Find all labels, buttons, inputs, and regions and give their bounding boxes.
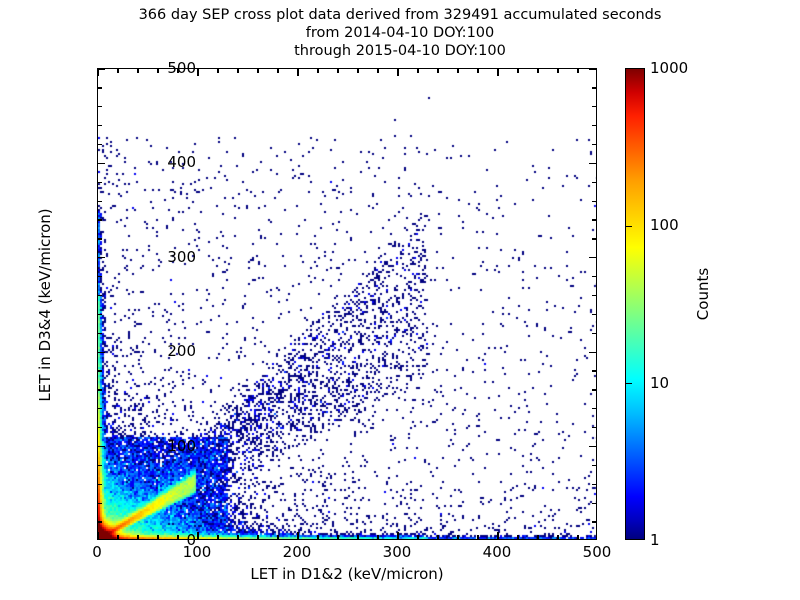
y-axis-tick [98, 68, 105, 69]
x-axis-minor-tick [277, 535, 278, 539]
y-axis-minor-tick [592, 182, 596, 183]
colorbar-gradient [626, 69, 644, 539]
x-axis-tick [197, 532, 198, 539]
x-tick-label: 0 [62, 543, 132, 561]
y-axis-minor-tick [592, 408, 596, 409]
x-axis-minor-tick [257, 535, 258, 539]
x-axis-tick [497, 532, 498, 539]
y-tick-label: 300 [126, 248, 196, 266]
colorbar [625, 68, 645, 540]
y-axis-tick [98, 163, 105, 164]
x-axis-minor-tick [357, 535, 358, 539]
x-axis-tick [397, 532, 398, 539]
y-axis-minor-tick [592, 389, 596, 390]
y-axis-minor-tick [98, 201, 102, 202]
colorbar-tick [626, 383, 632, 384]
x-axis-minor-tick [217, 69, 218, 73]
x-axis-minor-tick [517, 69, 518, 73]
x-axis-minor-tick [457, 535, 458, 539]
y-axis-minor-tick [98, 125, 102, 126]
y-axis-minor-tick [592, 87, 596, 88]
y-axis-minor-tick [98, 314, 102, 315]
x-tick-label: 400 [462, 543, 532, 561]
y-axis-minor-tick [592, 125, 596, 126]
y-axis-minor-tick [98, 521, 102, 522]
x-axis-minor-tick [457, 69, 458, 73]
title-line-3: through 2015-04-10 DOY:100 [0, 42, 800, 60]
y-axis-minor-tick [592, 333, 596, 334]
x-tick-label: 200 [262, 543, 332, 561]
x-axis-tick [97, 532, 98, 539]
colorbar-tick [626, 226, 632, 227]
x-axis-minor-tick [417, 535, 418, 539]
x-axis-tick [97, 69, 98, 76]
x-axis-tick [397, 69, 398, 76]
x-tick-label: 300 [362, 543, 432, 561]
x-axis-minor-tick [477, 69, 478, 73]
y-axis-minor-tick [98, 182, 102, 183]
y-axis-minor-tick [98, 370, 102, 371]
y-axis-minor-tick [98, 484, 102, 485]
y-axis-minor-tick [592, 106, 596, 107]
x-axis-minor-tick [517, 535, 518, 539]
colorbar-tick-label: 100 [650, 216, 679, 234]
y-axis-minor-tick [98, 276, 102, 277]
x-axis-minor-tick [377, 535, 378, 539]
y-axis-minor-tick [98, 87, 102, 88]
y-axis-minor-tick [98, 427, 102, 428]
y-axis-minor-tick [592, 238, 596, 239]
plot-area [97, 68, 597, 540]
y-axis-minor-tick [592, 465, 596, 466]
x-axis-minor-tick [557, 535, 558, 539]
x-axis-minor-tick [237, 535, 238, 539]
colorbar-tick-label: 10 [650, 374, 669, 392]
chart-title: 366 day SEP cross plot data derived from… [0, 6, 800, 60]
y-tick-label: 100 [126, 437, 196, 455]
y-axis-minor-tick [98, 333, 102, 334]
x-axis-minor-tick [537, 69, 538, 73]
x-tick-label: 500 [562, 543, 632, 561]
y-axis-minor-tick [592, 276, 596, 277]
y-axis-minor-tick [98, 219, 102, 220]
y-axis-minor-tick [592, 370, 596, 371]
y-axis-tick [589, 446, 596, 447]
y-axis-minor-tick [98, 408, 102, 409]
x-axis-minor-tick [117, 535, 118, 539]
y-axis-minor-tick [98, 295, 102, 296]
y-axis-tick [98, 257, 105, 258]
x-axis-minor-tick [277, 69, 278, 73]
colorbar-title: Counts [694, 94, 712, 494]
x-axis-minor-tick [577, 535, 578, 539]
y-axis-minor-tick [98, 503, 102, 504]
y-axis-tick [589, 352, 596, 353]
y-tick-label: 400 [126, 153, 196, 171]
x-axis-minor-tick [317, 69, 318, 73]
title-line-2: from 2014-04-10 DOY:100 [0, 24, 800, 42]
x-axis-minor-tick [437, 535, 438, 539]
y-axis-minor-tick [592, 295, 596, 296]
scatter-density-plot [98, 69, 597, 540]
x-axis-minor-tick [437, 69, 438, 73]
y-axis-minor-tick [98, 465, 102, 466]
x-axis-minor-tick [217, 535, 218, 539]
y-axis-minor-tick [592, 201, 596, 202]
y-axis-minor-tick [98, 106, 102, 107]
y-tick-label: 200 [126, 342, 196, 360]
x-axis-tick [297, 532, 298, 539]
x-axis-minor-tick [357, 69, 358, 73]
x-axis-minor-tick [337, 69, 338, 73]
y-axis-tick [589, 163, 596, 164]
x-axis-tick [197, 69, 198, 76]
x-axis-minor-tick [337, 535, 338, 539]
y-axis-tick [589, 257, 596, 258]
y-axis-tick [98, 352, 105, 353]
x-axis-minor-tick [317, 535, 318, 539]
y-tick-label: 500 [126, 59, 196, 77]
x-axis-title: LET in D1&2 (keV/micron) [97, 565, 597, 583]
colorbar-tick-label: 1 [650, 531, 660, 549]
x-axis-minor-tick [377, 69, 378, 73]
y-axis-title: LET in D3&4 (keV/micron) [36, 55, 54, 555]
colorbar-tick-label: 1000 [650, 59, 688, 77]
x-axis-minor-tick [237, 69, 238, 73]
y-axis-minor-tick [592, 219, 596, 220]
y-axis-tick [98, 446, 105, 447]
y-axis-minor-tick [98, 238, 102, 239]
x-axis-tick [297, 69, 298, 76]
y-axis-minor-tick [592, 503, 596, 504]
title-line-1: 366 day SEP cross plot data derived from… [0, 6, 800, 24]
figure-canvas: 366 day SEP cross plot data derived from… [0, 0, 800, 600]
x-axis-minor-tick [417, 69, 418, 73]
x-axis-minor-tick [537, 535, 538, 539]
x-axis-minor-tick [557, 69, 558, 73]
y-axis-minor-tick [592, 427, 596, 428]
x-axis-tick [497, 69, 498, 76]
x-axis-minor-tick [117, 69, 118, 73]
y-axis-minor-tick [98, 144, 102, 145]
y-axis-minor-tick [98, 389, 102, 390]
y-axis-minor-tick [592, 484, 596, 485]
y-axis-minor-tick [592, 521, 596, 522]
y-axis-minor-tick [592, 144, 596, 145]
y-axis-tick [589, 68, 596, 69]
y-tick-label: 0 [126, 531, 196, 549]
x-axis-minor-tick [477, 535, 478, 539]
x-axis-minor-tick [577, 69, 578, 73]
x-axis-minor-tick [257, 69, 258, 73]
y-axis-minor-tick [592, 314, 596, 315]
